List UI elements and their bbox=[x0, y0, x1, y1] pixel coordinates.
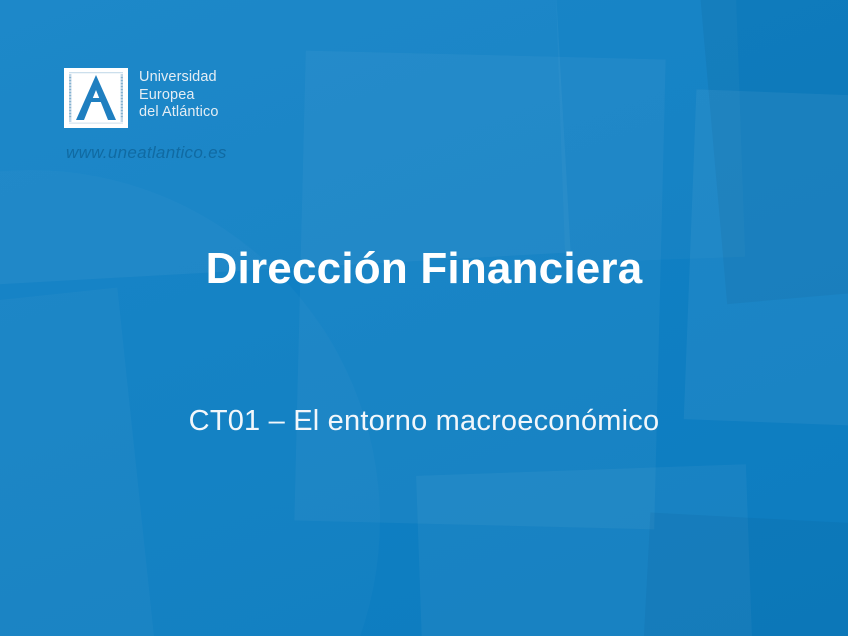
logo-wordmark-line-2: Europea bbox=[139, 87, 219, 105]
subtitle-placeholder: CT01 – El entorno macroeconómico bbox=[0, 402, 848, 440]
background-panel-7 bbox=[0, 288, 161, 636]
institution-logo: Universidad Europea del Atlántico bbox=[64, 68, 219, 128]
logo-wordmark-line-1: Universidad bbox=[139, 69, 219, 87]
background-panel-5 bbox=[416, 464, 754, 636]
logo-wordmark-line-3: del Atlántico bbox=[139, 104, 219, 122]
slide-title: Dirección Financiera bbox=[0, 243, 848, 295]
institution-url: www.uneatlantico.es bbox=[66, 143, 227, 163]
background-panel-9 bbox=[555, 0, 745, 263]
logo-wordmark: Universidad Europea del Atlántico bbox=[139, 68, 219, 122]
uneatlantico-a-monogram-icon bbox=[64, 68, 128, 128]
slide-subtitle: CT01 – El entorno macroeconómico bbox=[0, 402, 848, 440]
background-panel-6 bbox=[640, 513, 848, 636]
title-placeholder: Dirección Financiera bbox=[0, 243, 848, 295]
title-slide: Universidad Europea del Atlántico www.un… bbox=[0, 0, 848, 636]
